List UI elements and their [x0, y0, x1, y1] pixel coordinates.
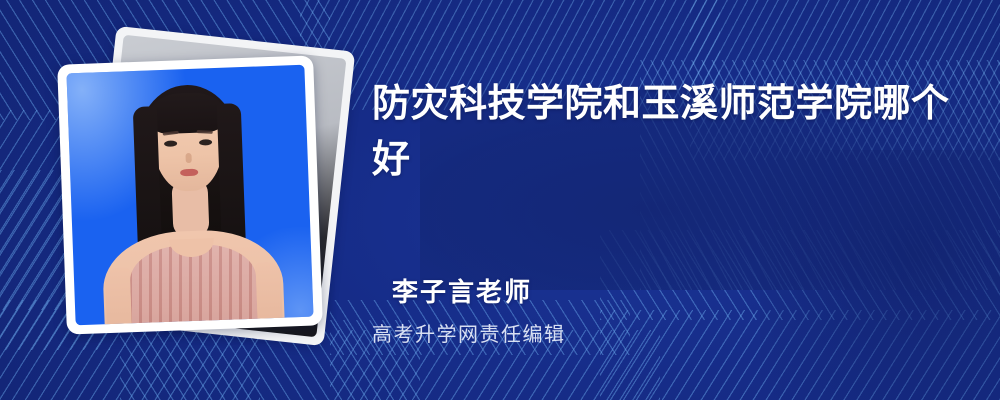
banner-text-column: 防灾科技学院和玉溪师范学院哪个好 李子言老师 高考升学网责任编辑 [372, 0, 972, 400]
author-name: 李子言老师 [392, 272, 532, 309]
portrait-illustration [66, 65, 313, 326]
mouth [180, 169, 198, 177]
photo-card-stack [62, 40, 337, 340]
page-title: 防灾科技学院和玉溪师范学院哪个好 [372, 76, 962, 188]
nose [185, 153, 191, 163]
author-role: 高考升学网责任编辑 [372, 318, 566, 347]
arm-right [255, 262, 284, 326]
photo-frame-icon [57, 55, 323, 334]
avatar [66, 65, 313, 326]
article-cover-banner: 防灾科技学院和玉溪师范学院哪个好 李子言老师 高考升学网责任编辑 [0, 0, 1000, 400]
